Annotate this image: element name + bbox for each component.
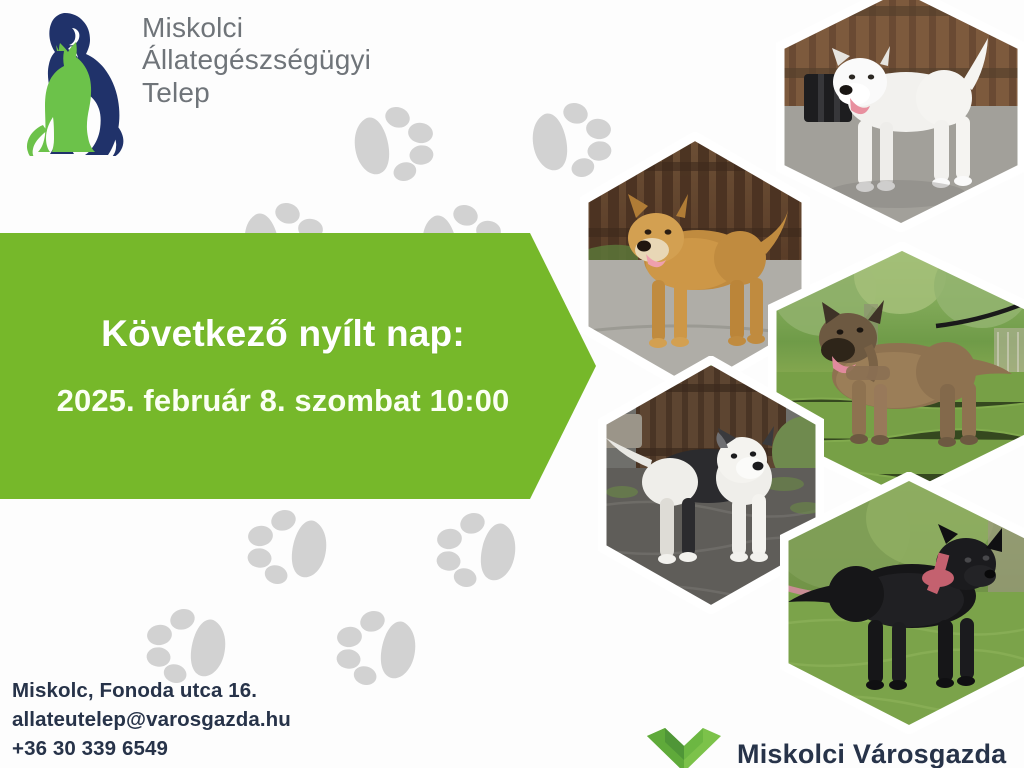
- organization-logo: Miskolci Állategészségügyi Telep: [18, 4, 371, 156]
- organization-name: Miskolci Állategészségügyi Telep: [142, 12, 371, 109]
- dog-and-cat-silhouette-logo-icon: [18, 4, 136, 156]
- dog-photo-collage: [568, 0, 1024, 722]
- paw-print-icon: [332, 602, 424, 694]
- partner-logo: Miskolci Városgazda: [645, 726, 1006, 768]
- photo-black-dog-leash: [780, 472, 1024, 734]
- photo-white-dog-fence: [776, 0, 1024, 232]
- contact-phone[interactable]: +36 30 339 6549: [12, 734, 291, 763]
- paw-print-icon: [243, 501, 335, 593]
- varosgazda-chevron-logo-icon: [645, 726, 723, 768]
- partner-name: Miskolci Városgazda: [737, 739, 1006, 768]
- banner-title: Következő nyílt nap:: [101, 313, 465, 355]
- paw-print-icon: [432, 504, 524, 596]
- open-day-banner: Következő nyílt nap: 2025. február 8. sz…: [0, 233, 600, 499]
- poster-canvas: Miskolci Állategészségügyi Telep: [0, 0, 1024, 768]
- contact-info: Miskolc, Fonoda utca 16. allateutelep@va…: [12, 676, 291, 763]
- banner-date: 2025. február 8. szombat 10:00: [57, 383, 510, 419]
- contact-address: Miskolc, Fonoda utca 16.: [12, 676, 291, 705]
- contact-email[interactable]: allateutelep@varosgazda.hu: [12, 705, 291, 734]
